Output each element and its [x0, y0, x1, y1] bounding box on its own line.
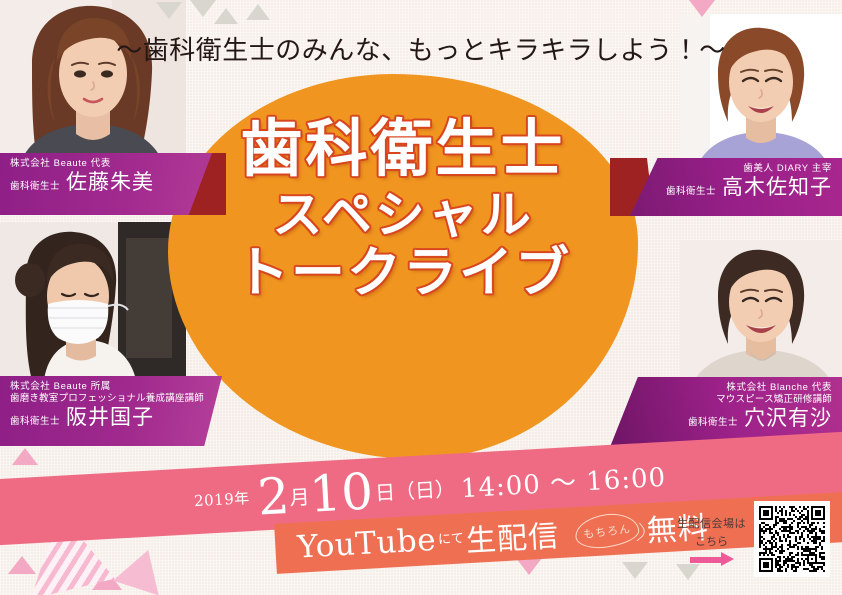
speaker-role: 歯科衛生士	[10, 416, 60, 431]
speaker-nameplate-sakai: 株式会社 Beaute 所属 歯磨き教室プロフェッショナル養成講座講師 歯科衛生…	[0, 376, 222, 446]
qr-code-block[interactable]: 生配信会場は こちら	[677, 501, 830, 577]
broadcast-live-label: 生配信	[465, 511, 560, 560]
event-poster: 株式会社 Beaute 代表 歯科衛生士 佐藤朱美	[0, 0, 842, 595]
qr-caption-line-1: 生配信会場は	[677, 515, 746, 531]
speaker-org: 株式会社 Blanche 代表	[644, 382, 832, 394]
arrow-right-icon	[690, 555, 734, 564]
speaker-photo-sato	[0, 0, 186, 172]
poster-title: 歯科衛生士 スペシャル トークライブ	[168, 118, 638, 300]
speaker-photo-anazawa	[680, 240, 842, 390]
triangle-decoration	[622, 562, 648, 579]
speech-bubble-of-course: もちろん	[573, 510, 641, 551]
date-day-unit: 日	[374, 475, 396, 505]
date-weekday: （日）	[394, 472, 456, 504]
qr-caption-line-2: こちら	[677, 533, 746, 549]
speaker-nameplate-takagi: 歯美人 DIARY 主宰 歯科衛生士 高木佐知子	[630, 158, 842, 216]
speaker-org-secondary: 歯磨き教室プロフェッショナル養成講座講師	[10, 393, 196, 405]
triangle-decoration	[516, 558, 542, 575]
title-line-3: トークライブ	[168, 246, 638, 300]
broadcast-platform: YouTube	[296, 522, 437, 566]
title-line-2: スペシャル	[168, 190, 638, 240]
speaker-org: 株式会社 Beaute 所属	[10, 381, 196, 393]
broadcast-particle: にて	[435, 527, 466, 551]
speaker-role: 歯科衛生士	[688, 417, 738, 432]
qr-caption: 生配信会場は こちら	[677, 515, 746, 564]
speaker-name: 佐藤朱美	[66, 170, 154, 196]
date-month-unit: 月	[289, 480, 311, 510]
title-line-1: 歯科衛生士	[168, 118, 638, 180]
speaker-role: 歯科衛生士	[10, 181, 60, 196]
triangle-decoration	[8, 556, 36, 574]
triangle-decoration	[689, 0, 715, 17]
speaker-org: 歯美人 DIARY 主宰	[660, 163, 832, 175]
speaker-name: 穴沢有沙	[744, 406, 832, 432]
poster-tagline: 〜歯科衛生士のみんな、もっとキラキラしよう！〜	[0, 30, 842, 67]
date-month-number: 2	[256, 471, 291, 523]
triangle-decoration	[190, 0, 216, 17]
qr-canvas	[759, 506, 825, 572]
speaker-name: 高木佐知子	[722, 175, 832, 201]
speaker-org-secondary: マウスピース矯正研修講師	[644, 394, 832, 406]
speaker-name: 阪井国子	[66, 405, 154, 431]
triangle-decoration	[156, 2, 182, 19]
triangle-decoration	[246, 4, 270, 20]
date-time-range: 14:00 〜 16:00	[460, 456, 667, 504]
speaker-org: 株式会社 Beaute 代表	[10, 158, 184, 170]
speaker-photo-sakai	[0, 222, 186, 380]
triangle-decoration	[214, 8, 238, 24]
qr-code-image[interactable]	[754, 501, 830, 577]
speaker-role: 歯科衛生士	[666, 186, 716, 201]
date-year: 2019年	[193, 487, 250, 513]
date-day-number: 10	[308, 466, 374, 519]
triangle-decoration	[12, 448, 38, 465]
